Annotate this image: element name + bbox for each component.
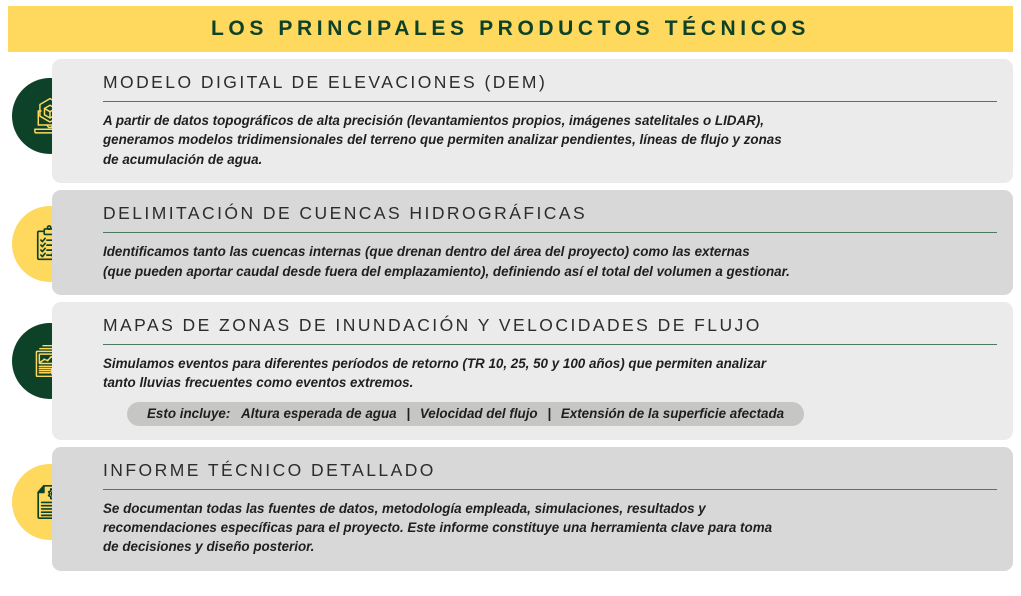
- card-title: INFORME TÉCNICO DETALLADO: [103, 460, 997, 482]
- card-body-line: Identificamos tanto las cuencas internas…: [103, 242, 997, 261]
- card-title: DELIMITACIÓN DE CUENCAS HIDROGRÁFICAS: [103, 203, 997, 225]
- card-body-line: recomendaciones específicas para el proy…: [103, 518, 997, 537]
- includes-pill-label: Esto incluye:: [147, 406, 230, 421]
- card-title: MODELO DIGITAL DE ELEVACIONES (DEM): [103, 72, 997, 94]
- card-row: MAPAS DE ZONAS DE INUNDACIÓN Y VELOCIDAD…: [0, 302, 1021, 440]
- card-informe-tecnico-detallado: INFORME TÉCNICO DETALLADO Se documentan …: [52, 447, 1013, 571]
- card-body-line: generamos modelos tridimensionales del t…: [103, 130, 997, 149]
- card-row: DELIMITACIÓN DE CUENCAS HIDROGRÁFICAS Id…: [0, 190, 1021, 295]
- card-body-line: de decisiones y diseño posterior.: [103, 537, 997, 556]
- card-body-line: A partir de datos topográficos de alta p…: [103, 111, 997, 130]
- includes-pill-item: Velocidad del flujo: [420, 406, 538, 421]
- card-title: MAPAS DE ZONAS DE INUNDACIÓN Y VELOCIDAD…: [103, 315, 997, 337]
- includes-pill-separator: |: [541, 406, 557, 421]
- card-body: Simulamos eventos para diferentes períod…: [103, 354, 997, 393]
- card-row: MODELO DIGITAL DE ELEVACIONES (DEM) A pa…: [0, 59, 1021, 183]
- card-body-line: Se documentan todas las fuentes de datos…: [103, 499, 997, 518]
- includes-pill-item: Extensión de la superficie afectada: [561, 406, 784, 421]
- header-banner: LOS PRINCIPALES PRODUCTOS TÉCNICOS: [8, 6, 1013, 52]
- card-divider: [103, 489, 997, 490]
- card-body-line: Simulamos eventos para diferentes períod…: [103, 354, 997, 373]
- card-divider: [103, 344, 997, 345]
- card-mapas-zonas-inundacion: MAPAS DE ZONAS DE INUNDACIÓN Y VELOCIDAD…: [52, 302, 1013, 440]
- card-modelo-digital-de-elevaciones: MODELO DIGITAL DE ELEVACIONES (DEM) A pa…: [52, 59, 1013, 183]
- includes-pill-separator: |: [400, 406, 416, 421]
- card-row: INFORME TÉCNICO DETALLADO Se documentan …: [0, 447, 1021, 571]
- card-body-line: (que pueden aportar caudal desde fuera d…: [103, 262, 997, 281]
- card-body: Se documentan todas las fuentes de datos…: [103, 499, 997, 557]
- card-body-line: tanto lluvias frecuentes como eventos ex…: [103, 373, 997, 392]
- card-body: A partir de datos topográficos de alta p…: [103, 111, 997, 169]
- page-title: LOS PRINCIPALES PRODUCTOS TÉCNICOS: [211, 17, 810, 41]
- card-divider: [103, 232, 997, 233]
- card-body-line: de acumulación de agua.: [103, 150, 997, 169]
- includes-pill: Esto incluye: Altura esperada de agua | …: [127, 402, 804, 426]
- infographic-root: LOS PRINCIPALES PRODUCTOS TÉCNICOS: [0, 0, 1021, 596]
- card-delimitacion-de-cuencas: DELIMITACIÓN DE CUENCAS HIDROGRÁFICAS Id…: [52, 190, 1013, 295]
- cards-list: MODELO DIGITAL DE ELEVACIONES (DEM) A pa…: [0, 59, 1021, 578]
- card-divider: [103, 101, 997, 102]
- includes-pill-item: Altura esperada de agua: [241, 406, 397, 421]
- card-body: Identificamos tanto las cuencas internas…: [103, 242, 997, 281]
